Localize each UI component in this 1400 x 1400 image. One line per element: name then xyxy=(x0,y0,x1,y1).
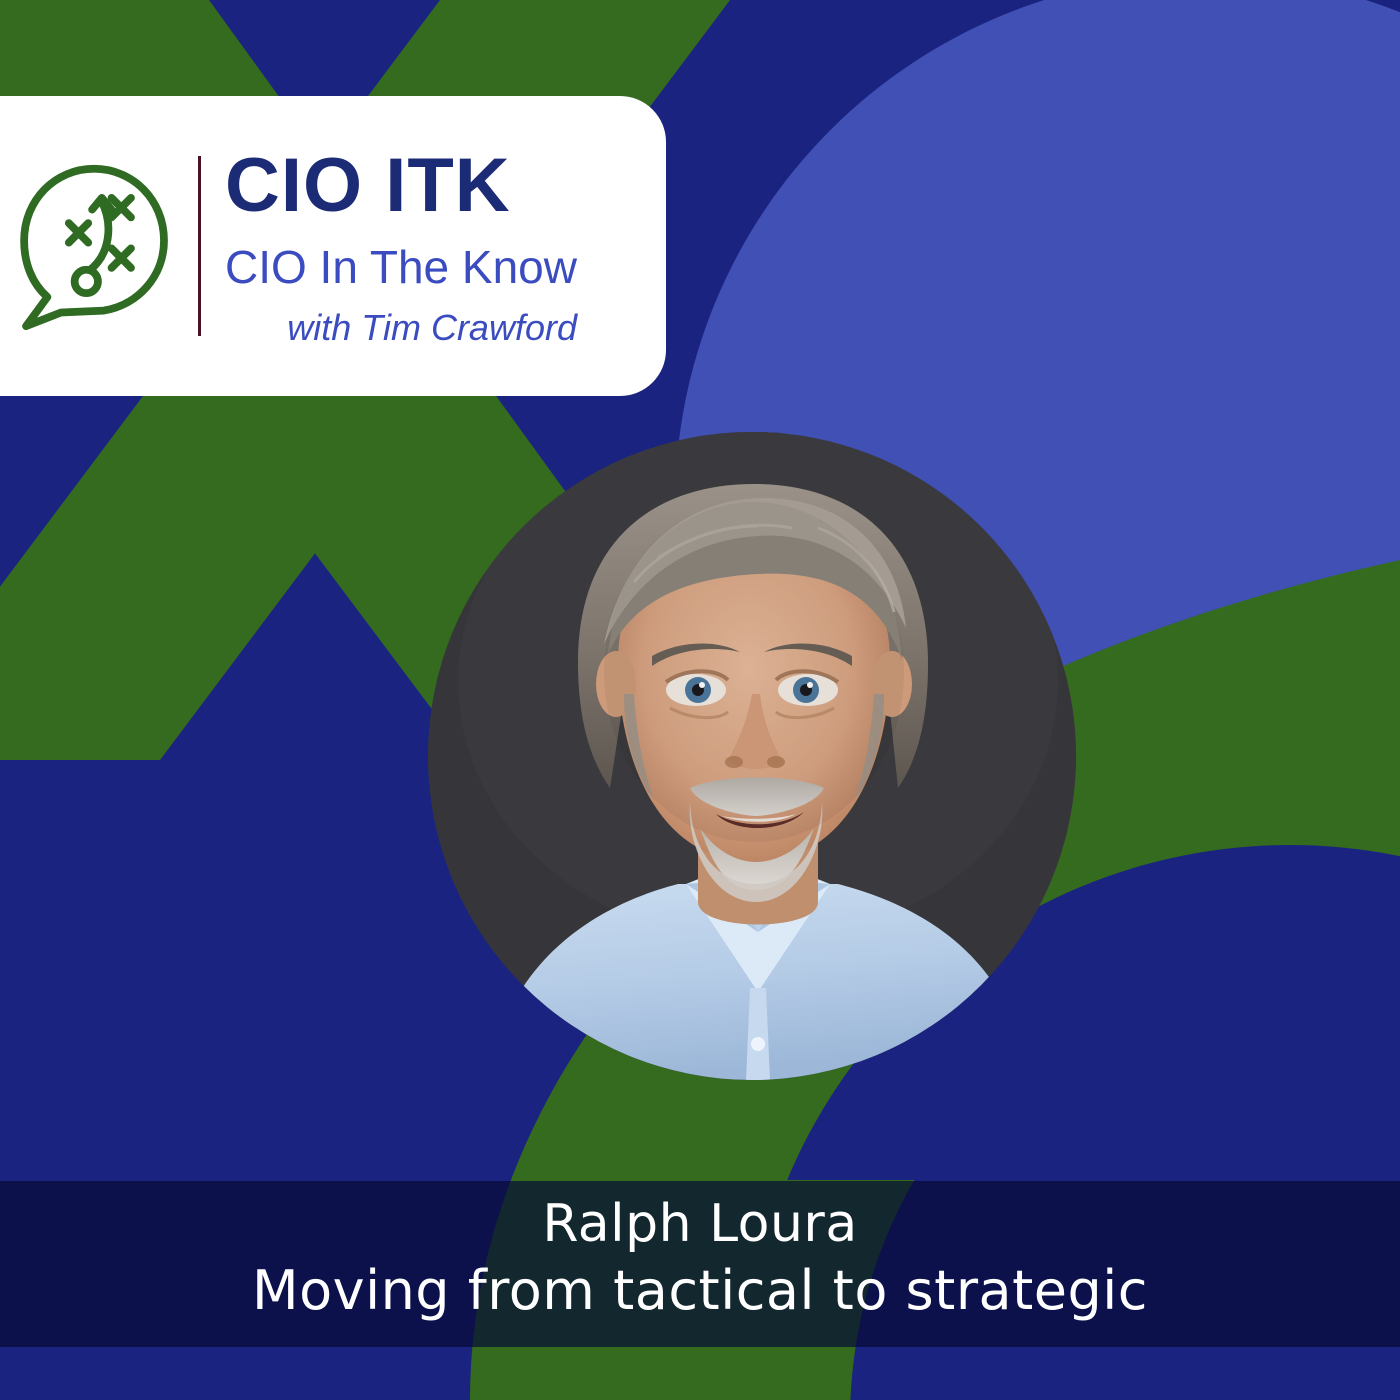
guest-portrait xyxy=(428,432,1076,1080)
guest-name: Ralph Loura xyxy=(0,1196,1400,1252)
podcast-cover-art: CIO ITK CIO In The Know with Tim Crawfor… xyxy=(0,0,1400,1400)
show-title: CIO ITK xyxy=(225,148,577,224)
show-host-line: with Tim Crawford xyxy=(225,310,577,346)
episode-topic: Moving from tactical to strategic xyxy=(0,1262,1400,1320)
strategy-speech-bubble-icon xyxy=(16,161,176,331)
logo-inner: CIO ITK CIO In The Know with Tim Crawfor… xyxy=(16,146,577,346)
logo-text-block: CIO ITK CIO In The Know with Tim Crawfor… xyxy=(225,146,577,346)
show-subtitle: CIO In The Know xyxy=(225,244,577,290)
caption-text-block: Ralph Loura Moving from tactical to stra… xyxy=(0,1196,1400,1320)
logo-divider xyxy=(198,156,201,336)
show-logo-card: CIO ITK CIO In The Know with Tim Crawfor… xyxy=(0,96,666,396)
guest-portrait-illustration xyxy=(428,432,1076,1080)
